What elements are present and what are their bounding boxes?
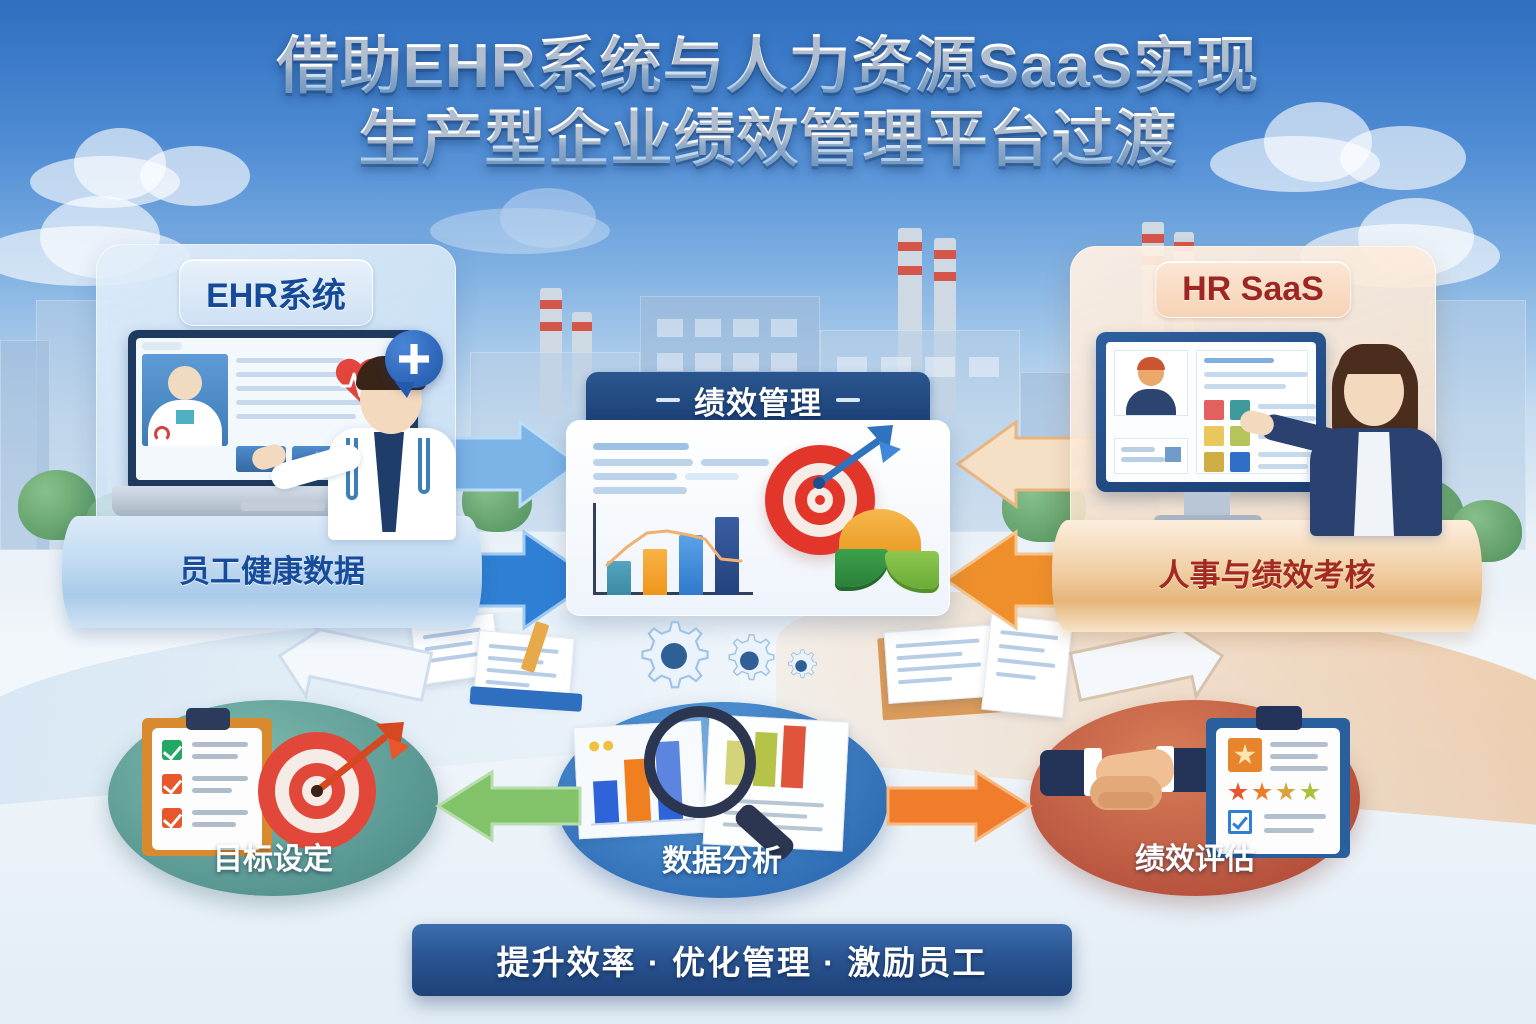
hrsaas-pedestal: 人事与绩效考核 xyxy=(1052,520,1482,632)
tagline-text: 提升效率 · 优化管理 · 激励员工 xyxy=(497,936,988,984)
title-block: 借助EHR系统与人力资源SaaS实现 生产型企业绩效管理平台过渡 xyxy=(0,34,1536,174)
hrsaas-pedestal-label: 人事与绩效考核 xyxy=(1052,520,1482,632)
dash-left-icon xyxy=(656,398,680,402)
employee-avatar-icon xyxy=(1114,350,1188,416)
performance-evaluation-card[interactable]: 绩效评估 xyxy=(1030,700,1360,896)
title-line-2: 生产型企业绩效管理平台过渡 xyxy=(0,107,1536,174)
dash-right-icon xyxy=(836,398,860,402)
data-analysis-label: 数据分析 xyxy=(556,836,888,880)
laptop-trackpad xyxy=(241,502,325,511)
handshake-icon xyxy=(1040,740,1220,830)
tagline-banner: 提升效率 · 优化管理 · 激励员工 xyxy=(412,924,1072,996)
tile-blue[interactable] xyxy=(1230,452,1250,472)
employee-id-card xyxy=(1114,438,1188,474)
arrow-dart-icon xyxy=(284,710,414,820)
title-line-1: 借助EHR系统与人力资源SaaS实现 xyxy=(0,34,1536,101)
bar-chart-icon xyxy=(593,503,753,595)
ehr-chip-label: EHR系统 xyxy=(179,259,373,326)
gear-large-icon xyxy=(643,622,708,687)
arrow-right-orange xyxy=(884,768,1034,844)
tile-gold[interactable] xyxy=(1204,452,1224,472)
checkmark-green-icon xyxy=(162,740,182,760)
arrow-left-green xyxy=(434,768,584,844)
gear-medium-icon xyxy=(729,635,774,680)
monitor-screen xyxy=(1096,332,1326,492)
checkmark-orange-icon xyxy=(162,808,182,828)
trend-line-icon xyxy=(593,503,753,595)
performance-evaluation-label: 绩效评估 xyxy=(1030,834,1360,878)
checkmark-icon xyxy=(1228,810,1252,834)
infographic-canvas: 借助EHR系统与人力资源SaaS实现 生产型企业绩效管理平台过渡 EHR系统 xyxy=(0,0,1536,1024)
hr-color-tile-grid[interactable] xyxy=(1204,400,1250,472)
checkmark-orange-icon xyxy=(162,774,182,794)
doctor-avatar-icon xyxy=(142,354,228,446)
dashboard-title: 绩效管理 xyxy=(694,378,822,423)
data-analysis-card[interactable]: 数据分析 xyxy=(556,702,888,898)
gear-small-icon xyxy=(789,650,817,678)
hr-manager-person-icon xyxy=(1306,336,1446,536)
pie-chart-icon xyxy=(835,509,939,591)
gear-group xyxy=(636,616,846,697)
goal-setting-card[interactable]: 目标设定 xyxy=(108,700,438,896)
medical-cross-icon xyxy=(385,330,443,388)
hrsaas-chip-label: HR SaaS xyxy=(1155,261,1351,318)
dashboard-body xyxy=(566,420,950,616)
tile-red[interactable] xyxy=(1204,400,1224,420)
tile-yellow[interactable] xyxy=(1204,426,1224,446)
goal-setting-label: 目标设定 xyxy=(108,834,438,878)
performance-dashboard-panel[interactable]: 绩效管理 xyxy=(566,372,950,620)
